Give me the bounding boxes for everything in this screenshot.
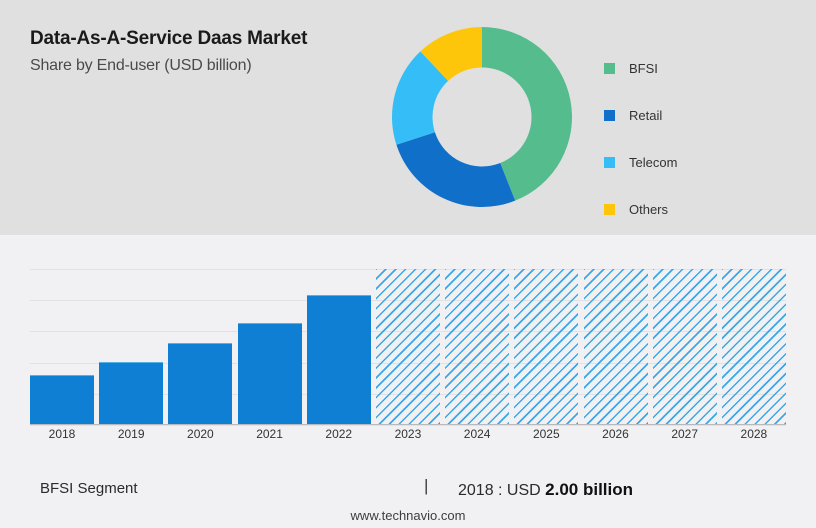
bar-2024[interactable] bbox=[445, 269, 509, 424]
x-axis-label-2025: 2025 bbox=[514, 427, 578, 441]
donut-slice-retail[interactable] bbox=[396, 132, 515, 207]
bar-column bbox=[30, 269, 94, 424]
bar-2026[interactable] bbox=[584, 269, 648, 424]
bar-2028[interactable] bbox=[722, 269, 786, 424]
bar-2021[interactable] bbox=[238, 323, 302, 424]
bar-2020[interactable] bbox=[168, 343, 232, 424]
bar-column bbox=[168, 269, 232, 424]
footer-url: www.technavio.com bbox=[0, 508, 816, 523]
bar-column bbox=[307, 269, 371, 424]
square-swatch-icon bbox=[604, 157, 615, 168]
bar-2023[interactable] bbox=[376, 269, 440, 424]
legend-item-telecom[interactable]: Telecom bbox=[604, 139, 677, 186]
x-axis-line bbox=[30, 424, 786, 425]
bar-2022[interactable] bbox=[307, 295, 371, 424]
bar-2027[interactable] bbox=[653, 269, 717, 424]
x-axis-labels: 2018201920202021202220232024202520262027… bbox=[30, 427, 786, 441]
bar-column bbox=[514, 269, 578, 424]
bar-column bbox=[238, 269, 302, 424]
bar-chart: 2018201920202021202220232024202520262027… bbox=[0, 235, 816, 450]
legend-item-bfsi[interactable]: BFSI bbox=[604, 45, 677, 92]
page-subtitle: Share by End-user (USD billion) bbox=[30, 57, 307, 75]
page-title: Data-As-A-Service Daas Market bbox=[30, 28, 307, 50]
x-axis-label-2018: 2018 bbox=[30, 427, 94, 441]
footer-value-prefix: 2018 : USD bbox=[458, 482, 545, 499]
bar-column bbox=[722, 269, 786, 424]
x-axis-label-2020: 2020 bbox=[168, 427, 232, 441]
bar-2018[interactable] bbox=[30, 375, 94, 424]
bar-column bbox=[99, 269, 163, 424]
legend-item-label: Retail bbox=[629, 108, 662, 123]
footer: BFSI Segment | 2018 : USD 2.00 billion w… bbox=[0, 450, 816, 528]
footer-segment-label: BFSI Segment bbox=[40, 480, 138, 497]
bar-series bbox=[30, 269, 786, 424]
bar-2025[interactable] bbox=[514, 269, 578, 424]
bar-column bbox=[376, 269, 440, 424]
x-axis-label-2026: 2026 bbox=[584, 427, 648, 441]
x-axis-label-2024: 2024 bbox=[445, 427, 509, 441]
x-axis-label-2021: 2021 bbox=[238, 427, 302, 441]
square-swatch-icon bbox=[604, 204, 615, 215]
donut-chart-svg bbox=[382, 17, 582, 217]
footer-divider: | bbox=[424, 476, 428, 496]
title-block: Data-As-A-Service Daas Market Share by E… bbox=[30, 28, 307, 75]
footer-value-highlight: 2.00 billion bbox=[545, 480, 633, 499]
bar-2019[interactable] bbox=[99, 362, 163, 424]
square-swatch-icon bbox=[604, 110, 615, 121]
x-axis-label-2023: 2023 bbox=[376, 427, 440, 441]
bar-column bbox=[584, 269, 648, 424]
legend-item-retail[interactable]: Retail bbox=[604, 92, 677, 139]
x-axis-label-2027: 2027 bbox=[653, 427, 717, 441]
x-axis-label-2022: 2022 bbox=[307, 427, 371, 441]
square-swatch-icon bbox=[604, 63, 615, 74]
legend-item-others[interactable]: Others bbox=[604, 186, 677, 233]
bar-column bbox=[653, 269, 717, 424]
legend-item-label: BFSI bbox=[629, 61, 658, 76]
x-axis-label-2028: 2028 bbox=[722, 427, 786, 441]
legend-item-label: Telecom bbox=[629, 155, 677, 170]
legend-item-label: Others bbox=[629, 202, 668, 217]
bar-column bbox=[445, 269, 509, 424]
header-panel: Data-As-A-Service Daas Market Share by E… bbox=[0, 0, 816, 235]
donut-chart bbox=[382, 17, 582, 217]
footer-value: 2018 : USD 2.00 billion bbox=[458, 480, 633, 500]
gridline bbox=[30, 425, 786, 426]
x-axis-label-2019: 2019 bbox=[99, 427, 163, 441]
chart-legend: BFSI Retail Telecom Others bbox=[604, 45, 677, 233]
